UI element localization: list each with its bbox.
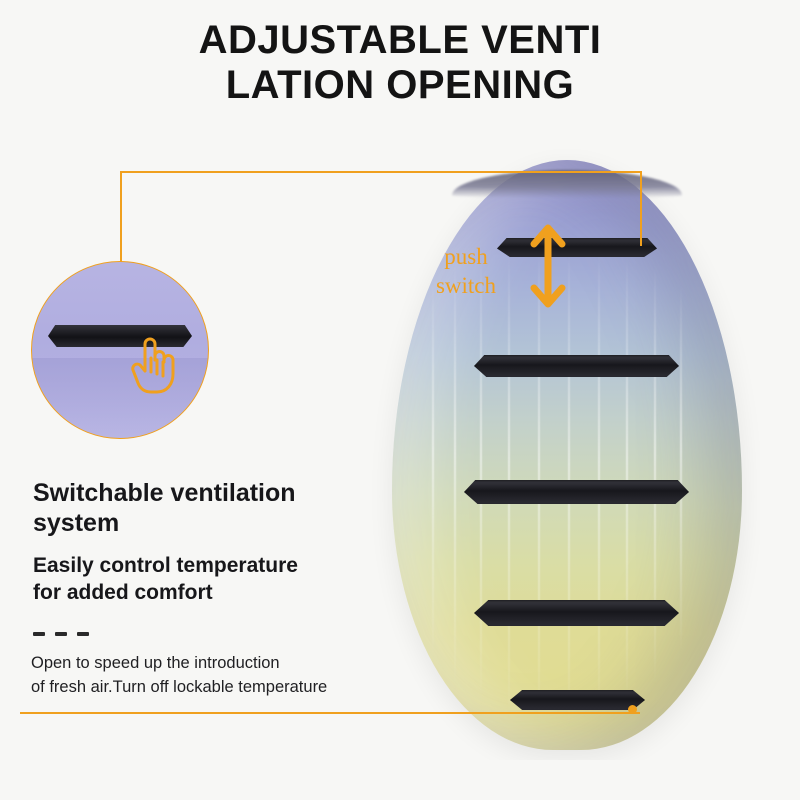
product-infographic: ADJUSTABLE VENTI LATION OPENING: [0, 0, 800, 800]
feature-subheading-line-1: Easily control temperature: [33, 554, 298, 577]
vent-opening-5: [510, 690, 645, 710]
detail-zoom-circle: [31, 261, 209, 439]
callout-line-right: [640, 171, 642, 246]
feature-body-text: Open to speed up the introduction of fre…: [31, 652, 381, 700]
vent-opening-2: [474, 355, 679, 377]
callout-line-horizontal: [120, 171, 642, 173]
push-label-line-2: switch: [418, 272, 514, 301]
page-title: ADJUSTABLE VENTI LATION OPENING: [0, 18, 800, 108]
feature-body-line-1: Open to speed up the introduction: [31, 654, 280, 672]
title-line-1: ADJUSTABLE VENTI: [199, 18, 602, 62]
feature-subheading-line-2: for added comfort: [33, 581, 213, 604]
feature-heading: Switchable ventilation system: [33, 479, 363, 538]
bottom-divider-line: [20, 712, 640, 714]
title-line-2: LATION OPENING: [0, 63, 800, 108]
bottom-line-end-dot: [628, 705, 637, 714]
dashed-divider: [33, 628, 103, 642]
callout-line-left: [120, 171, 122, 263]
vent-opening-4: [474, 600, 679, 626]
up-down-arrow-icon: [516, 216, 580, 316]
vent-opening-3: [464, 480, 689, 504]
feature-body-line-2: of fresh air.Turn off lockable temperatu…: [31, 678, 327, 696]
push-label-line-1: push: [444, 244, 487, 269]
hand-pointer-icon: [128, 334, 182, 396]
feature-subheading: Easily control temperature for added com…: [33, 552, 363, 607]
push-switch-label: push switch: [418, 243, 514, 301]
